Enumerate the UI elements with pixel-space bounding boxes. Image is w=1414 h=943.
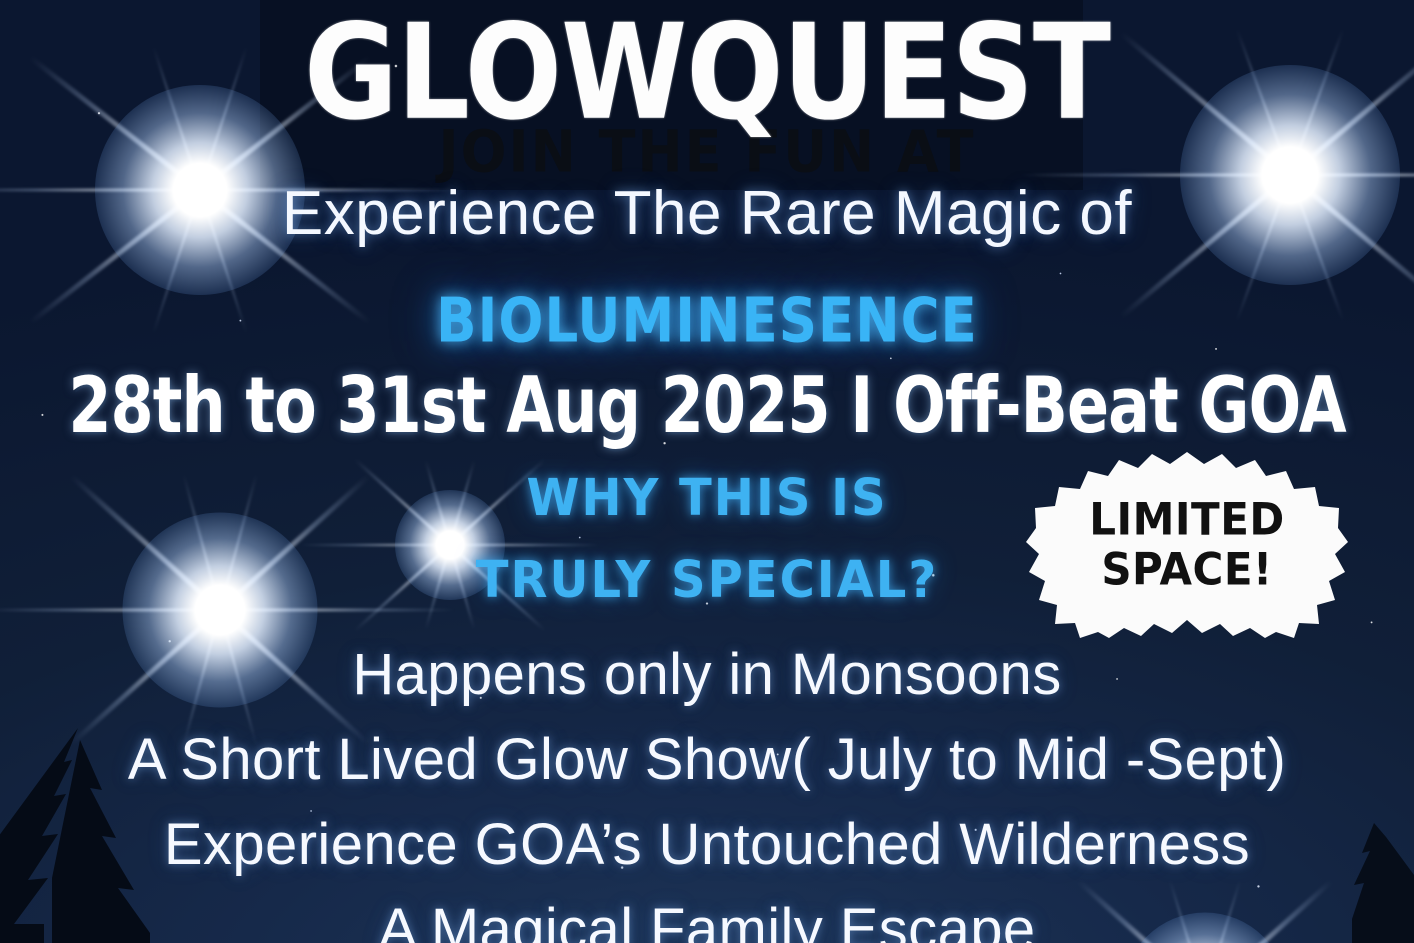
poster-canvas: JOIN THE FUN AT GLOWQUEST Experience The… (0, 0, 1414, 943)
badge-line-2: SPACE! (1101, 544, 1272, 594)
badge-line-1: LIMITED (1089, 494, 1285, 544)
date-and-location: 28th to 31st Aug 2025 I Off-Beat GOA (42, 360, 1371, 451)
limited-space-badge-text: LIMITED SPACE! (1026, 443, 1348, 644)
benefit-item: Happens only in Monsoons (0, 641, 1414, 708)
limited-space-badge: LIMITED SPACE! (1026, 450, 1348, 638)
tagline-text: Experience The Rare Magic of (0, 178, 1414, 249)
benefit-item: A Short Lived Glow Show( July to Mid -Se… (0, 726, 1414, 793)
benefit-item: A Magical Family Escape (0, 896, 1414, 943)
benefit-item: Experience GOA’s Untouched Wilderness (0, 811, 1414, 878)
bioluminescence-highlight: BIOLUMINESENCE (0, 286, 1414, 357)
brand-title: GLOWQUEST (0, 8, 1414, 140)
